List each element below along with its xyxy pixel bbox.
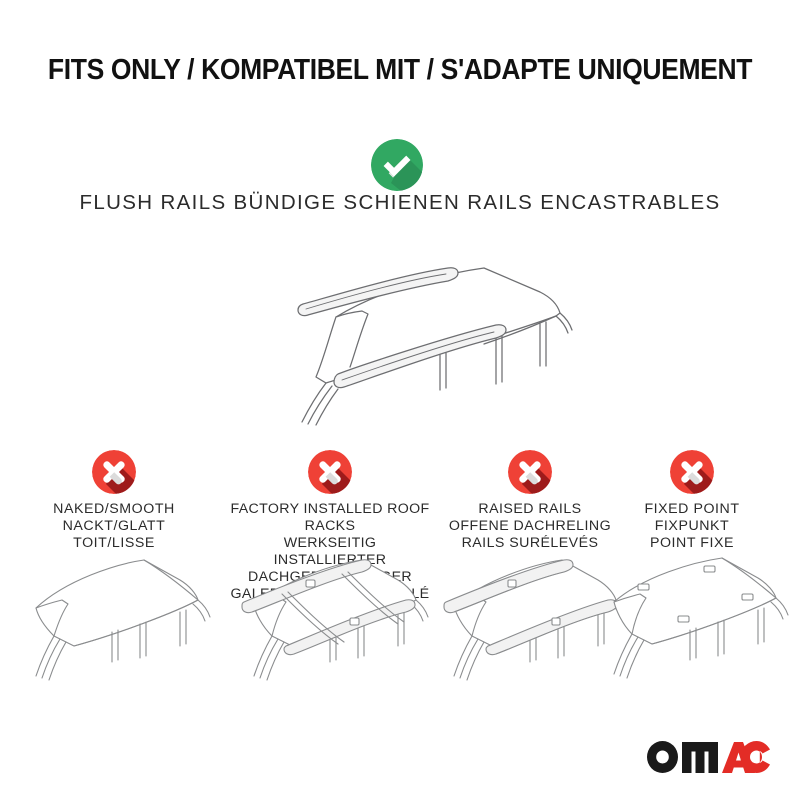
cross-circle-svg <box>670 450 714 494</box>
cross-circle-icon <box>92 450 136 494</box>
option-label: NAKED/SMOOTH NACKT/GLATT TOIT/LISSE <box>14 501 214 552</box>
cross-circle-svg <box>508 450 552 494</box>
cross-circle-svg <box>308 450 352 494</box>
car-roof-fixed-point-illustration <box>592 550 792 685</box>
cross-circle-icon <box>508 450 552 494</box>
car-roof-factory-racks-svg <box>230 540 430 685</box>
check-circle-icon <box>371 139 423 191</box>
cross-circle-icon <box>308 450 352 494</box>
cross-circle-icon <box>670 450 714 494</box>
car-roof-flush-rails-svg <box>240 262 580 437</box>
option-fixed-point: FIXED POINT FIXPUNKT POINT FIXE <box>592 450 792 552</box>
omac-logo <box>646 740 770 774</box>
option-label: FIXED POINT FIXPUNKT POINT FIXE <box>592 501 792 552</box>
car-roof-flush-rails-illustration <box>240 262 580 437</box>
car-roof-fixed-point-svg <box>592 550 792 685</box>
cross-circle-svg <box>92 450 136 494</box>
hero-label: FLUSH RAILS BÜNDIGE SCHIENEN RAILS ENCAS… <box>0 191 800 215</box>
option-naked-smooth: NAKED/SMOOTH NACKT/GLATT TOIT/LISSE <box>14 450 214 552</box>
car-roof-naked-smooth-svg <box>14 550 214 685</box>
check-circle-svg <box>371 139 423 191</box>
omac-logo-svg <box>646 740 770 774</box>
car-roof-factory-racks-illustration <box>230 540 430 675</box>
page-title: FITS ONLY / KOMPATIBEL MIT / S'ADAPTE UN… <box>28 54 772 87</box>
car-roof-naked-smooth-illustration <box>14 550 214 685</box>
option-factory-roof-racks: FACTORY INSTALLED ROOF RACKS WERKSEITIG … <box>230 450 430 620</box>
